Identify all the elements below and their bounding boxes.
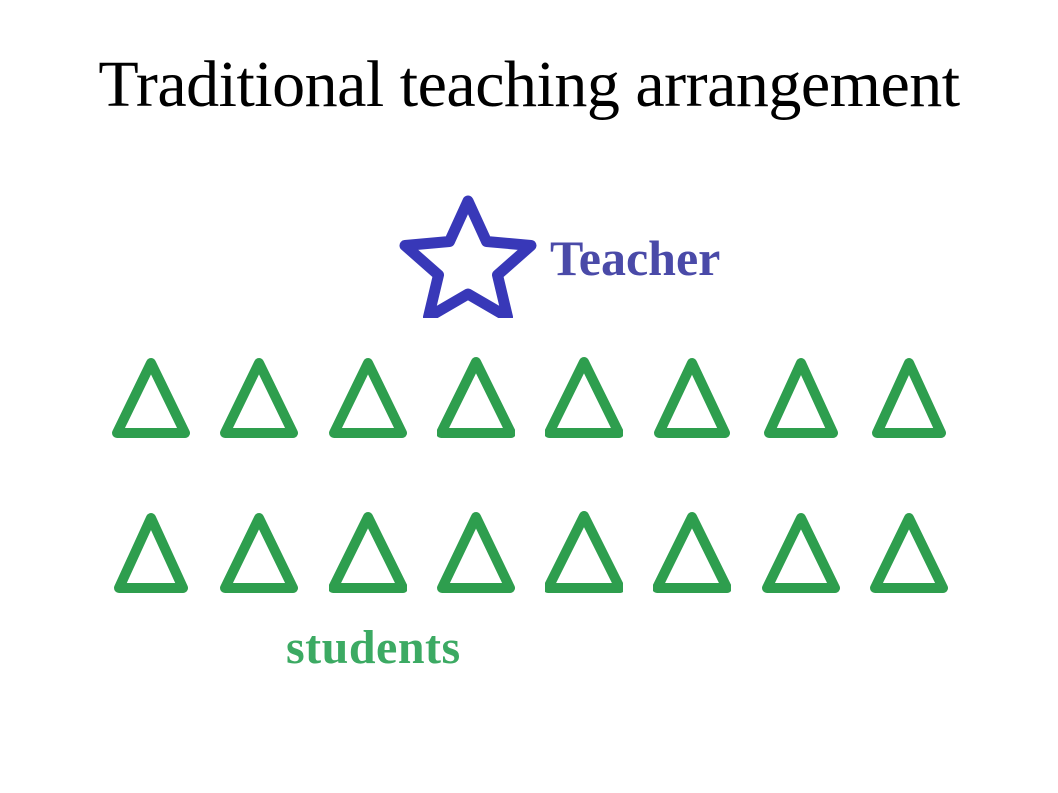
- triangle-outline-icon: [112, 356, 190, 440]
- triangle-outline-icon: [112, 511, 190, 595]
- students-label: students: [286, 624, 461, 672]
- triangle-outline-icon: [220, 511, 298, 595]
- triangle-outline-icon: [762, 511, 840, 595]
- triangle-outline-icon: [653, 511, 731, 595]
- teacher-label: Teacher: [550, 233, 720, 283]
- triangle-outline-icon: [653, 356, 731, 440]
- triangle-outline-icon: [870, 356, 948, 440]
- triangle-outline-icon: [762, 356, 840, 440]
- student-row: [112, 509, 948, 595]
- triangle-outline-icon: [329, 356, 407, 440]
- triangle-outline-icon: [545, 356, 623, 440]
- triangle-outline-icon: [437, 511, 515, 595]
- triangle-outline-icon: [220, 356, 298, 440]
- student-row: [112, 354, 948, 440]
- teacher-group: Teacher: [398, 193, 748, 318]
- star-outline-icon: [398, 193, 538, 318]
- page-title: Traditional teaching arrangement: [0, 52, 1058, 118]
- triangle-outline-icon: [437, 356, 515, 440]
- slide-canvas: Traditional teaching arrangement Teacher…: [0, 0, 1058, 793]
- triangle-outline-icon: [870, 511, 948, 595]
- triangle-outline-icon: [545, 511, 623, 595]
- triangle-outline-icon: [329, 511, 407, 595]
